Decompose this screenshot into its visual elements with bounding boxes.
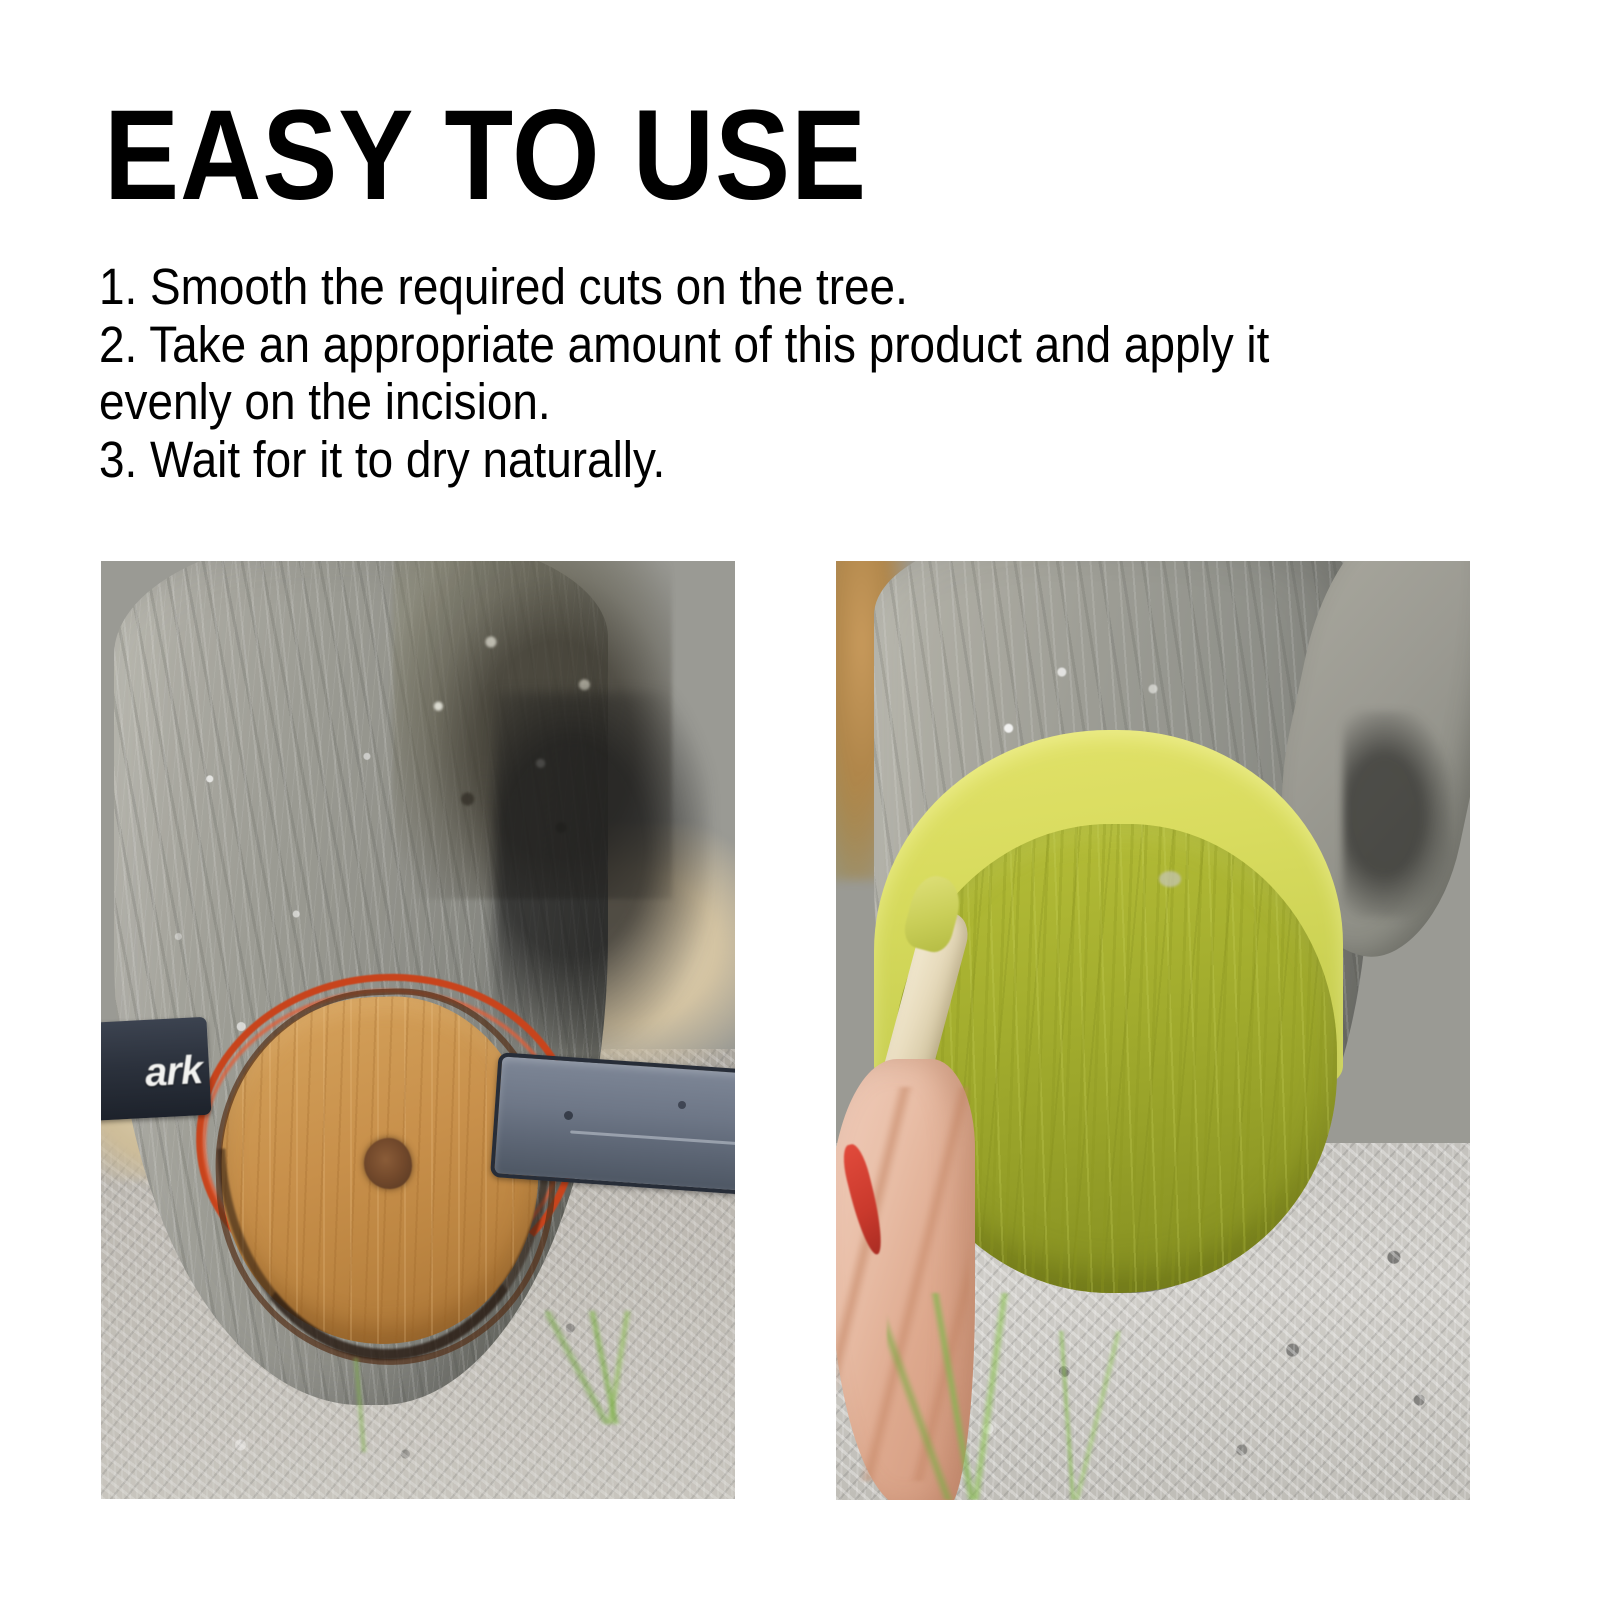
chainsaw-guide-bar (490, 1052, 735, 1197)
sealant-application-photo (836, 561, 1470, 1500)
wood-knot (364, 1138, 412, 1189)
instruction-step-1: 1. Smooth the required cuts on the tree. (99, 258, 1377, 316)
grass-sprig (545, 1311, 672, 1424)
chainsaw-brand-text: ark (101, 1048, 204, 1101)
branch-shadow (1343, 711, 1451, 918)
instruction-list: 1. Smooth the required cuts on the tree.… (99, 258, 1519, 489)
instruction-step-3: 3. Wait for it to dry naturally. (99, 431, 1377, 489)
grass-blades (1020, 1331, 1121, 1500)
uncoated-speck (1159, 871, 1181, 887)
instruction-step-2: 2. Take an appropriate amount of this pr… (99, 316, 1377, 431)
grass-sprig (310, 1358, 411, 1452)
grass-blades (887, 1293, 1039, 1500)
chainsaw-rivet-icon (564, 1111, 573, 1120)
page-title: EASY TO USE (104, 92, 867, 220)
chainsaw-cut-photo: ark (101, 561, 735, 1499)
